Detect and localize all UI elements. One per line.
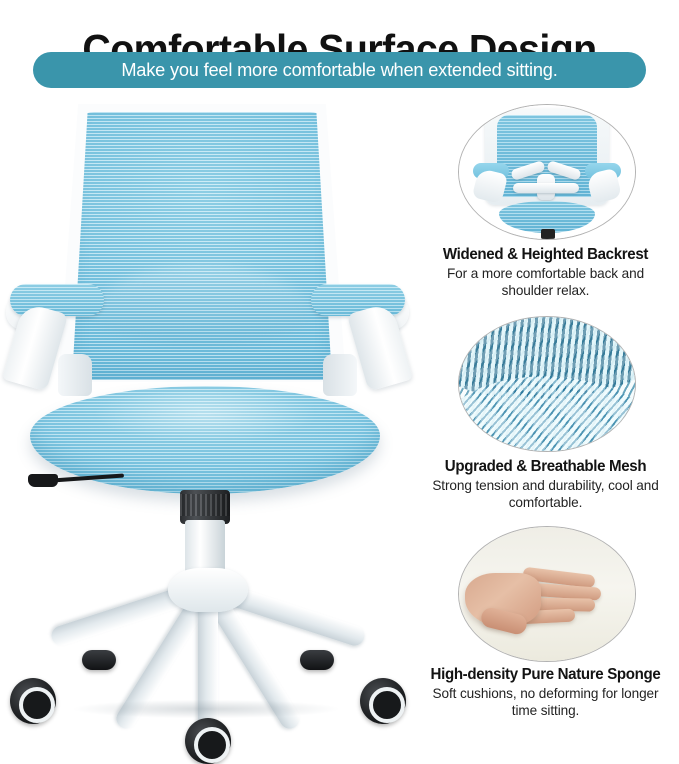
chair-back-view-photo-icon [458,104,636,240]
base-hub [168,568,248,612]
lever-handle [28,474,58,487]
feature-description: Strong tension and durability, cool and … [422,478,669,511]
product-feature-page: Comfortable Surface Design Make you feel… [0,0,679,726]
caster-hub [194,727,230,763]
mesh-fabric-illustration [459,317,635,451]
five-star-base [8,566,408,716]
caster-wheel [82,650,116,670]
armrest-left [2,282,120,390]
hand-graphic [465,567,605,633]
armrest-right-bracket [323,354,357,396]
subtitle-banner-text: Make you feel more comfortable when exte… [121,60,557,80]
mesh-weave-texture [459,317,635,451]
armrest-right [295,282,413,390]
feature-description: For a more comfortable back and shoulder… [422,266,669,299]
feature-title: Widened & Heighted Backrest [415,246,677,264]
chair-back-view-illustration [459,105,635,239]
bracket-cross [513,183,579,193]
armrest-left-bracket [58,354,92,396]
feature-title: High-density Pure Nature Sponge [415,666,677,684]
feature-item-backrest: Widened & Heighted Backrest For a more c… [412,104,679,316]
thumb-lumbar-support-bracket [511,161,581,201]
subtitle-banner: Make you feel more comfortable when exte… [33,52,646,88]
feature-list: Widened & Heighted Backrest For a more c… [412,104,679,726]
floor-shadow [20,696,392,722]
caster-wheel [185,718,231,764]
height-adjust-lever [28,474,124,486]
thumb-lever [541,229,555,239]
feature-item-mesh: Upgraded & Breathable Mesh Strong tensio… [412,316,679,526]
gas-cylinder-collar [180,490,230,524]
feature-description: Soft cushions, no deforming for longer t… [422,686,669,719]
lever-bar [52,473,124,482]
caster-tire [300,650,334,670]
main-product-image [0,96,415,726]
caster-wheel [300,650,334,670]
mesh-fabric-closeup-photo-icon [458,316,636,452]
feature-item-sponge: High-density Pure Nature Sponge Soft cus… [412,526,679,726]
hand-pressing-sponge-photo-icon [458,526,636,662]
feature-title: Upgraded & Breathable Mesh [415,458,677,476]
sponge-illustration [459,527,635,661]
caster-tire [82,650,116,670]
